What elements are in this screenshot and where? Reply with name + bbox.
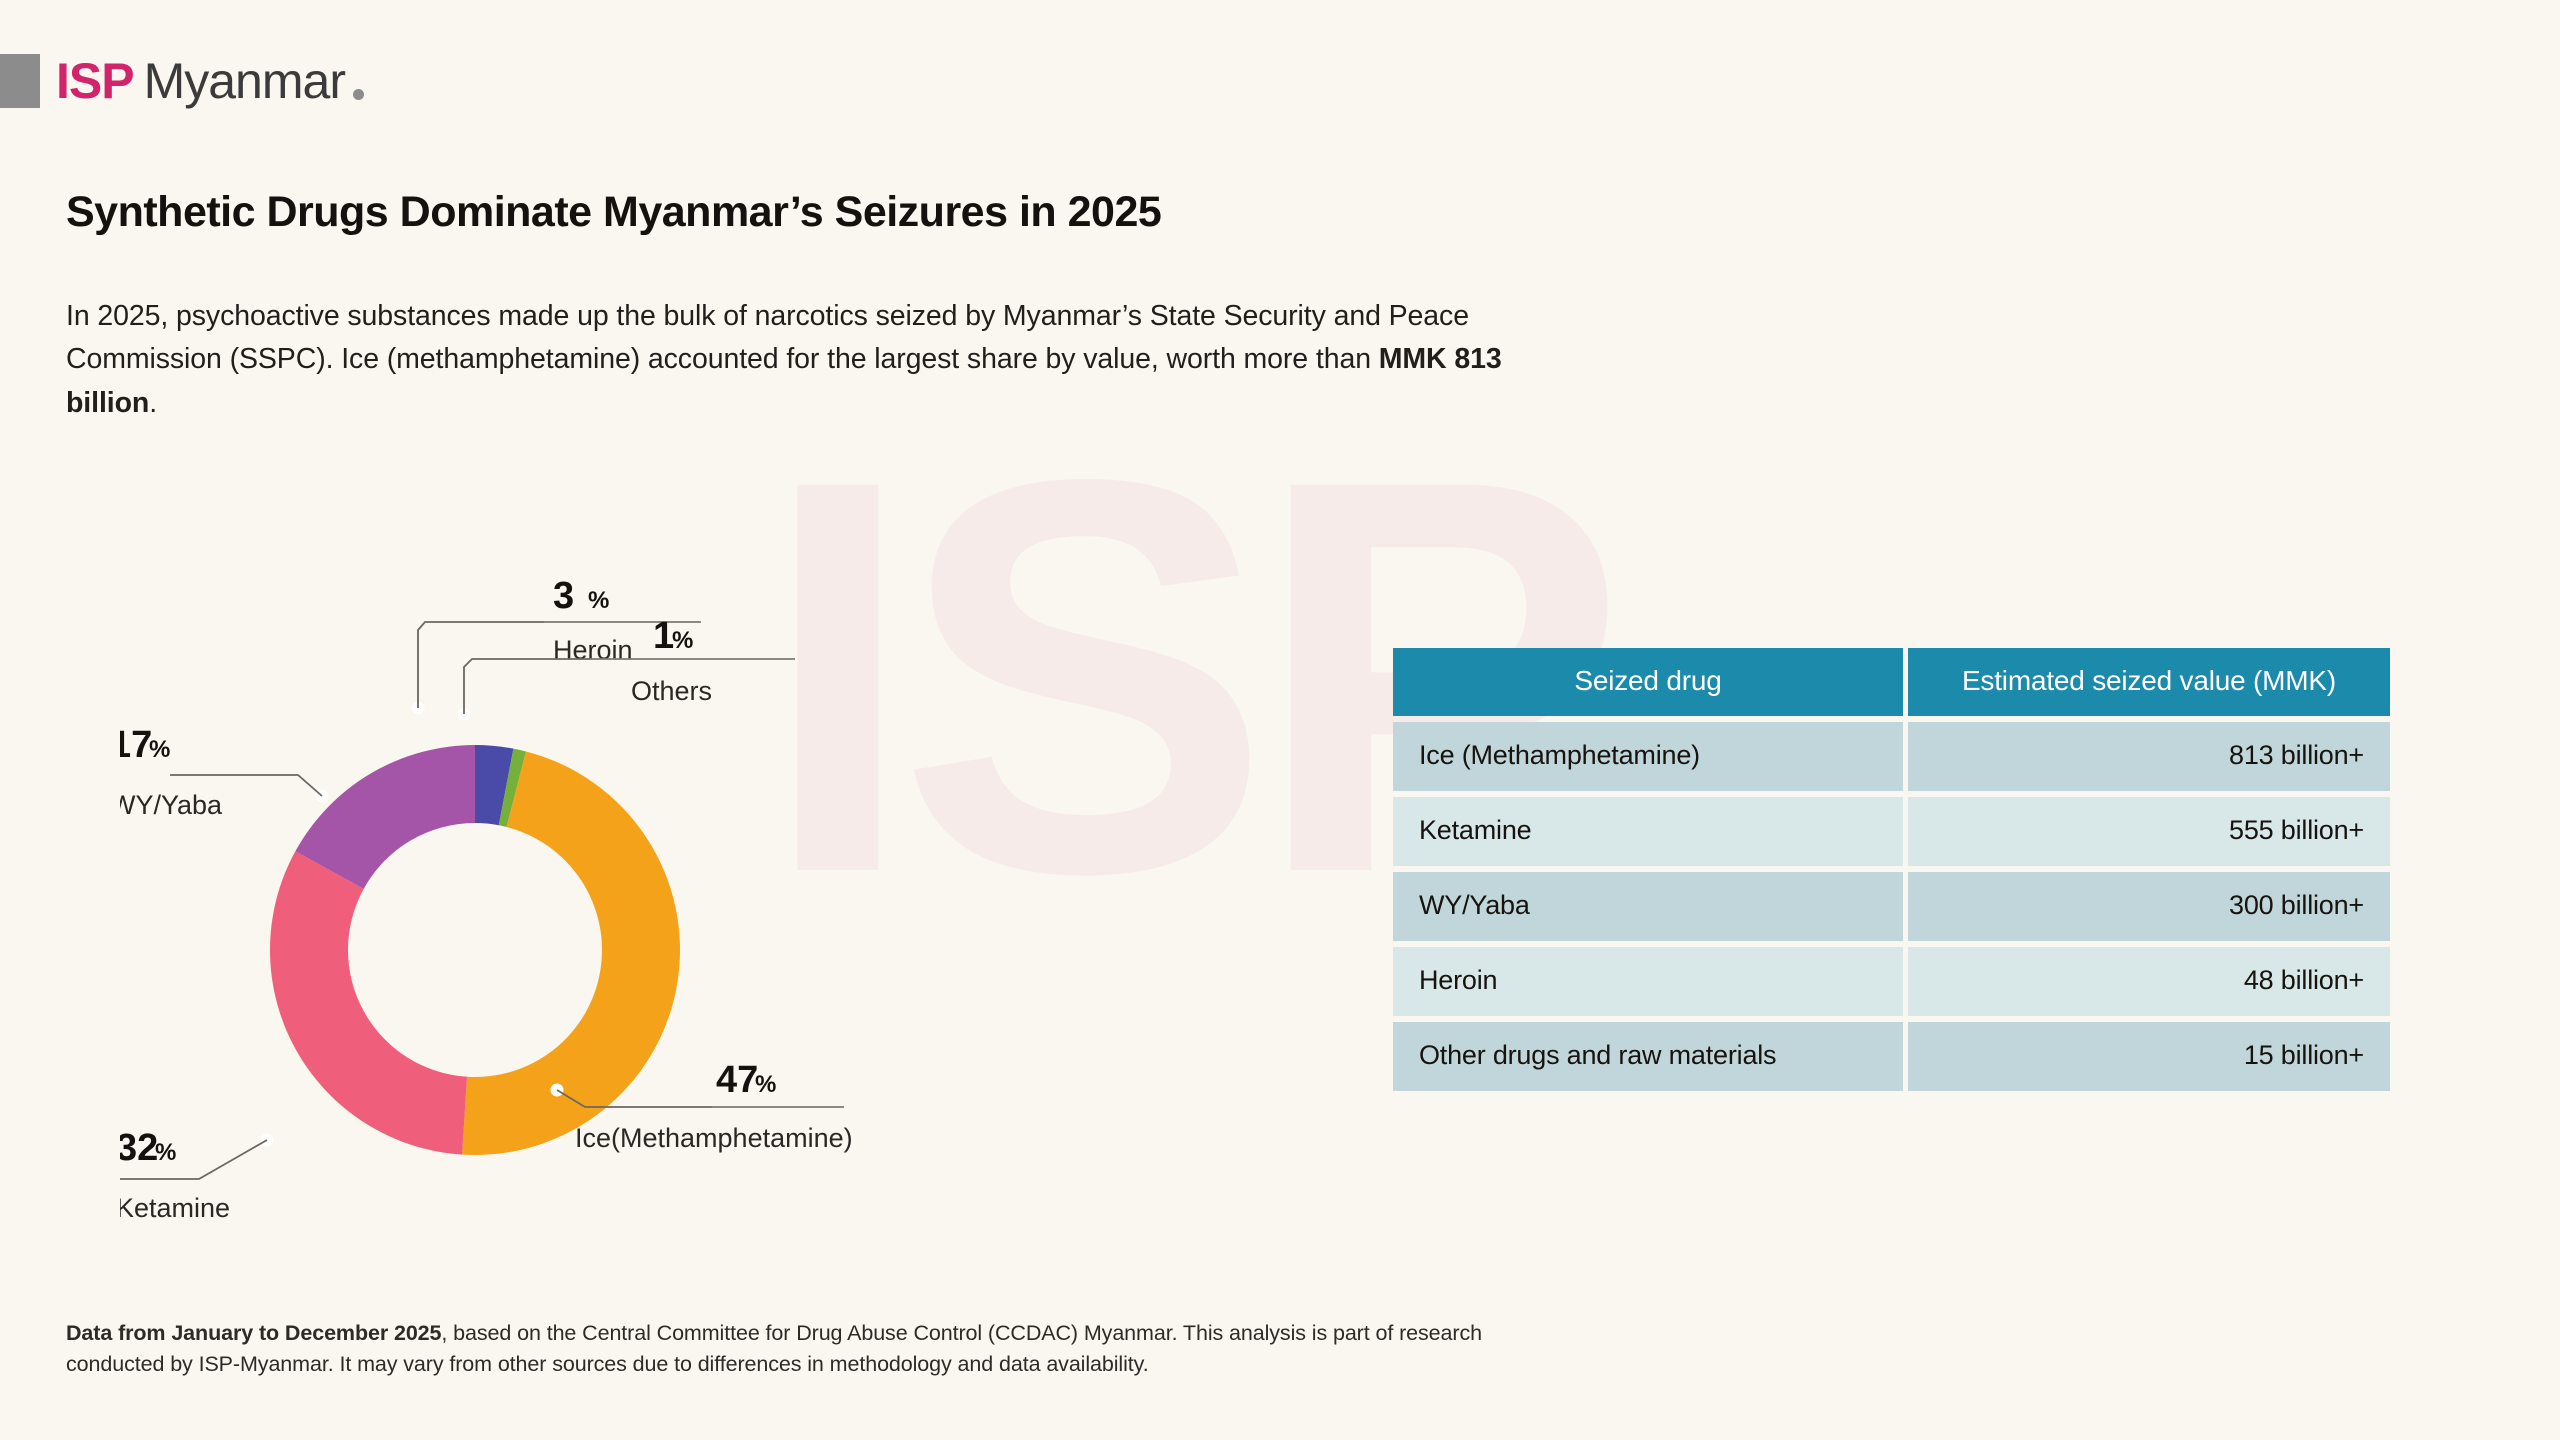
callout-wyyaba: 17 % WY/Yaba xyxy=(120,724,329,820)
table-row[interactable]: Heroin 48 billion+ xyxy=(1393,947,2390,1016)
cat-label-ice: Ice(Methamphetamine) xyxy=(575,1123,853,1153)
logo-square-icon xyxy=(0,54,40,108)
donut-chart: 3 % Heroin 1 % Others 47 % Ice(Methamphe… xyxy=(120,520,1380,1280)
table-row[interactable]: Ice (Methamphetamine) 813 billion+ xyxy=(1393,722,2390,791)
subtitle-part1: In 2025, psychoactive substances made up… xyxy=(66,300,1469,375)
pct-value-wyyaba: 17 xyxy=(120,724,152,766)
source-note: Data from January to December 2025, base… xyxy=(66,1318,1586,1380)
cell-value: 48 billion+ xyxy=(1908,947,2390,1016)
source-note-bold: Data from January to December 2025 xyxy=(66,1321,441,1345)
pct-sign-wyyaba: % xyxy=(149,736,170,763)
cell-value: 555 billion+ xyxy=(1908,797,2390,866)
cell-drug: WY/Yaba xyxy=(1393,872,1903,941)
pct-sign-ice: % xyxy=(755,1071,776,1098)
leader-others xyxy=(464,659,590,714)
callout-ketamine: 32 % Ketamine xyxy=(120,1127,274,1223)
pct-value-ice: 47 xyxy=(716,1059,758,1101)
table-row[interactable]: Other drugs and raw materials 15 billion… xyxy=(1393,1022,2390,1091)
table-header-row: Seized drug Estimated seized value (MMK) xyxy=(1393,648,2390,716)
pct-value-others: 1 xyxy=(653,615,674,657)
table-header-value: Estimated seized value (MMK) xyxy=(1908,648,2390,716)
leader-heroin xyxy=(418,622,544,708)
page-title: Synthetic Drugs Dominate Myanmar’s Seizu… xyxy=(66,188,1161,237)
subtitle-part2: . xyxy=(149,387,157,419)
cat-label-heroin: Heroin xyxy=(553,635,633,665)
table-row[interactable]: Ketamine 555 billion+ xyxy=(1393,797,2390,866)
cell-drug: Other drugs and raw materials xyxy=(1393,1022,1903,1091)
brand-logo: ISP Myanmar xyxy=(0,54,364,108)
cell-value: 813 billion+ xyxy=(1908,722,2390,791)
cell-value: 300 billion+ xyxy=(1908,872,2390,941)
logo-myanmar-text: Myanmar xyxy=(144,56,345,106)
seizure-table: Seized drug Estimated seized value (MMK)… xyxy=(1393,648,2390,1091)
pct-value-heroin: 3 xyxy=(553,575,574,617)
slice-ketamine[interactable] xyxy=(270,851,467,1154)
cell-drug: Heroin xyxy=(1393,947,1903,1016)
cell-drug: Ice (Methamphetamine) xyxy=(1393,722,1903,791)
pct-sign-others: % xyxy=(672,627,693,654)
infographic-page: ISP ISP Myanmar Synthetic Drugs Dominate… xyxy=(0,0,2560,1440)
cat-label-wyyaba: WY/Yaba xyxy=(120,790,223,820)
cell-value: 15 billion+ xyxy=(1908,1022,2390,1091)
cat-label-others: Others xyxy=(631,676,712,706)
cat-label-ketamine: Ketamine xyxy=(120,1193,230,1223)
logo-dot-icon xyxy=(353,89,364,100)
pct-value-ketamine: 32 xyxy=(120,1127,158,1169)
logo-isp-text: ISP xyxy=(56,56,134,106)
pct-sign-ketamine: % xyxy=(155,1139,176,1166)
page-subtitle: In 2025, psychoactive substances made up… xyxy=(66,295,1526,425)
table-header-drug: Seized drug xyxy=(1393,648,1903,716)
table-row[interactable]: WY/Yaba 300 billion+ xyxy=(1393,872,2390,941)
donut-slices xyxy=(270,745,680,1155)
callout-others: 1 % Others xyxy=(458,615,796,721)
cell-drug: Ketamine xyxy=(1393,797,1903,866)
pct-sign-heroin: % xyxy=(588,587,609,614)
